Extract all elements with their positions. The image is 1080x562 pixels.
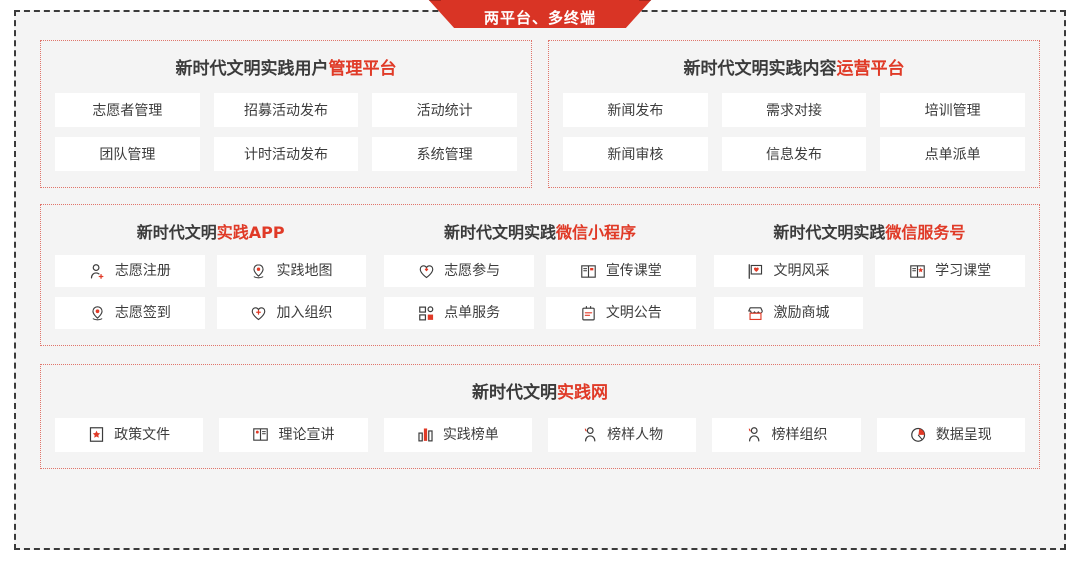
button-info-publish[interactable]: 信息发布: [722, 137, 867, 171]
title-plain: 新时代文明实践: [773, 223, 885, 242]
column-title-mini-program: 新时代文明实践微信小程序: [384, 217, 695, 255]
button-practice-map[interactable]: 实践地图: [217, 255, 367, 287]
button-label: 榜样人物: [607, 428, 663, 442]
button-label: 文明风采: [773, 264, 829, 278]
column-app: 新时代文明实践APP 志愿注册: [55, 217, 366, 329]
button-data-presentation[interactable]: 数据呈现: [877, 418, 1025, 452]
title-plain: 新时代文明实践内容: [684, 59, 837, 79]
shop-icon: [747, 305, 764, 322]
button-policy-documents[interactable]: 政策文件: [55, 418, 203, 452]
button-recruit-activity-publish[interactable]: 招募活动发布: [214, 93, 359, 127]
button-grid-content-operation: 新闻发布 需求对接 培训管理 新闻审核 信息发布 点单派单: [563, 93, 1025, 171]
button-label: 政策文件: [114, 428, 170, 442]
button-grid-user-management: 志愿者管理 招募活动发布 活动统计 团队管理 计时活动发布 系统管理: [55, 93, 517, 171]
top-panels-row: 新时代文明实践用户管理平台 志愿者管理 招募活动发布 活动统计 团队管理 计时活…: [40, 40, 1040, 188]
button-grid-website: 政策文件 理论宣讲: [55, 418, 1025, 452]
button-system-management[interactable]: 系统管理: [372, 137, 517, 171]
pie-chart-icon: [910, 426, 927, 443]
person-group-icon: [745, 426, 762, 443]
column-mini-program: 新时代文明实践微信小程序 志愿参与: [384, 217, 695, 329]
flag-heart-icon: [747, 263, 764, 280]
button-label: 志愿签到: [115, 306, 171, 320]
button-study-classroom[interactable]: 学习课堂: [875, 255, 1025, 287]
title-plain: 新时代文明: [137, 223, 217, 242]
map-pin-icon: [250, 263, 267, 280]
column-service-account: 新时代文明实践微信服务号 文明风采: [714, 217, 1025, 329]
button-civilization-style[interactable]: 文明风采: [714, 255, 864, 287]
title-plain: 新时代文明实践: [444, 223, 556, 242]
button-activity-statistics[interactable]: 活动统计: [372, 93, 517, 127]
button-label: 学习课堂: [935, 264, 991, 278]
button-volunteer-register[interactable]: 志愿注册: [55, 255, 205, 287]
button-publicity-classroom[interactable]: 宣传课堂: [546, 255, 696, 287]
button-training-management[interactable]: 培训管理: [880, 93, 1025, 127]
button-news-publish[interactable]: 新闻发布: [563, 93, 708, 127]
heart-plus-icon: [250, 305, 267, 322]
terminal-columns: 新时代文明实践APP 志愿注册: [55, 217, 1025, 329]
button-volunteer-checkin[interactable]: 志愿签到: [55, 297, 205, 329]
button-label: 激励商城: [773, 306, 829, 320]
infographic-page: 两平台、多终端 新时代文明实践用户管理平台 志愿者管理 招募活动发布 活动统计 …: [0, 0, 1080, 562]
title-accent: 实践APP: [217, 223, 285, 242]
user-plus-icon: [89, 263, 106, 280]
banner-wing-left: [381, 0, 441, 1]
banner-wing-right: [639, 0, 699, 1]
panel-content-operation-platform: 新时代文明实践内容运营平台 新闻发布 需求对接 培训管理 新闻审核 信息发布 点…: [548, 40, 1040, 188]
panel-title-practice-website: 新时代文明实践网: [55, 377, 1025, 417]
title-accent: 管理平台: [329, 59, 397, 79]
button-label: 理论宣讲: [278, 428, 334, 442]
panel-user-management-platform: 新时代文明实践用户管理平台 志愿者管理 招募活动发布 活动统计 团队管理 计时活…: [40, 40, 532, 188]
button-incentive-mall[interactable]: 激励商城: [714, 297, 864, 329]
button-theory-lecture[interactable]: 理论宣讲: [219, 418, 367, 452]
banner-area: 两平台、多终端: [40, 8, 1040, 40]
button-civilization-notice[interactable]: 文明公告: [546, 297, 696, 329]
document-star-icon: [88, 426, 105, 443]
column-grid-service-account: 文明风采 学习课堂: [714, 255, 1025, 329]
title-accent: 运营平台: [837, 59, 905, 79]
grid-blocks-icon: [418, 305, 435, 322]
button-label: 点单服务: [444, 306, 500, 320]
map-pin-check-icon: [89, 305, 106, 322]
button-news-review[interactable]: 新闻审核: [563, 137, 708, 171]
column-title-service-account: 新时代文明实践微信服务号: [714, 217, 1025, 255]
button-role-model-person[interactable]: 榜样人物: [548, 418, 696, 452]
title-accent: 实践网: [557, 383, 608, 403]
title-accent: 微信服务号: [885, 223, 965, 242]
banner-label: 两平台、多终端: [484, 7, 596, 28]
panel-title-user-management: 新时代文明实践用户管理平台: [55, 53, 517, 93]
open-book-icon: [909, 263, 926, 280]
clipboard-icon: [580, 305, 597, 322]
bar-chart-icon: [417, 426, 434, 443]
button-label: 榜样组织: [771, 428, 827, 442]
button-join-organization[interactable]: 加入组织: [217, 297, 367, 329]
button-volunteer-participate[interactable]: 志愿参与: [384, 255, 534, 287]
person-award-icon: [581, 426, 598, 443]
column-grid-mini-program: 志愿参与 宣传课堂: [384, 255, 695, 329]
button-role-model-organization[interactable]: 榜样组织: [712, 418, 860, 452]
button-label: 志愿参与: [444, 264, 500, 278]
button-label: 实践榜单: [443, 428, 499, 442]
open-book-icon: [580, 263, 597, 280]
button-order-dispatch[interactable]: 点单派单: [880, 137, 1025, 171]
title-accent: 微信小程序: [556, 223, 636, 242]
panel-practice-website: 新时代文明实践网 政策文件 理: [40, 364, 1040, 468]
button-demand-matching[interactable]: 需求对接: [722, 93, 867, 127]
title-plain: 新时代文明: [472, 383, 557, 403]
button-volunteer-management[interactable]: 志愿者管理: [55, 93, 200, 127]
column-grid-app: 志愿注册 实践地图: [55, 255, 366, 329]
heart-icon: [418, 263, 435, 280]
button-label: 实践地图: [276, 264, 332, 278]
open-book-icon: [252, 426, 269, 443]
panel-terminals: 新时代文明实践APP 志愿注册: [40, 204, 1040, 346]
button-order-service[interactable]: 点单服务: [384, 297, 534, 329]
button-practice-ranking[interactable]: 实践榜单: [384, 418, 532, 452]
title-plain: 新时代文明实践用户: [176, 59, 329, 79]
button-label: 数据呈现: [936, 428, 992, 442]
button-team-management[interactable]: 团队管理: [55, 137, 200, 171]
button-label: 宣传课堂: [606, 264, 662, 278]
section-banner: 两平台、多终端: [427, 0, 653, 28]
column-title-app: 新时代文明实践APP: [55, 217, 366, 255]
button-label: 志愿注册: [115, 264, 171, 278]
button-timed-activity-publish[interactable]: 计时活动发布: [214, 137, 359, 171]
button-label: 文明公告: [606, 306, 662, 320]
button-label: 加入组织: [276, 306, 332, 320]
panel-title-content-operation: 新时代文明实践内容运营平台: [563, 53, 1025, 93]
